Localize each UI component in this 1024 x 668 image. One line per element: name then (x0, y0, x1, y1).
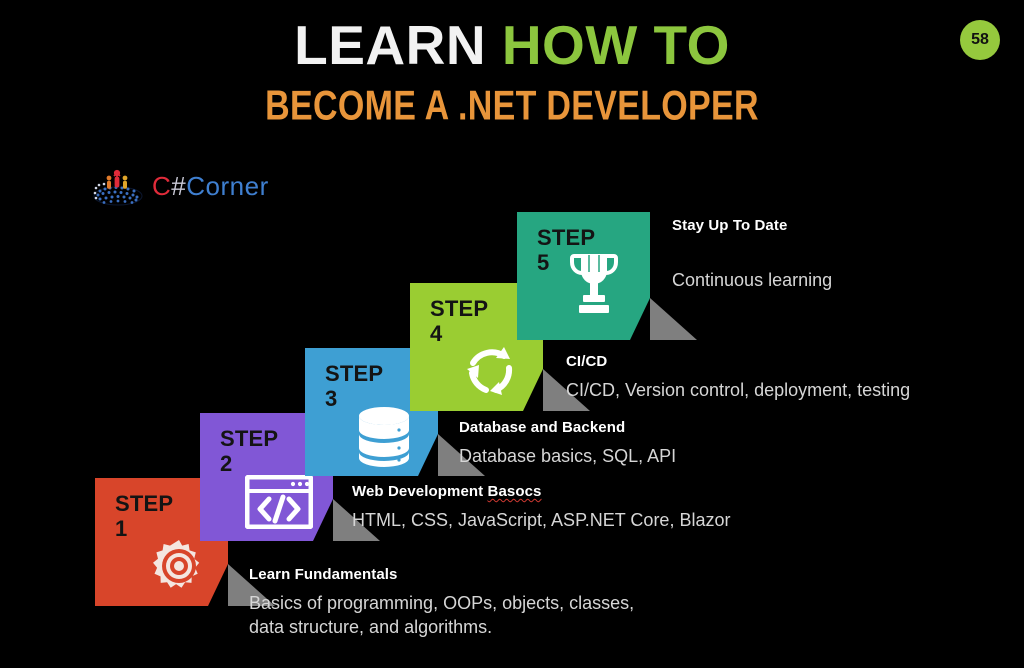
csharp-corner-globe-icon (92, 166, 144, 206)
code-window-icon (245, 475, 313, 534)
title-line-1: LEARN HOW TO (0, 18, 1024, 73)
step-4-heading: CI/CD (566, 353, 910, 370)
title-word-howto: HOW TO (502, 14, 730, 76)
step-4-description: CI/CD CI/CD, Version control, deployment… (566, 353, 910, 403)
step-box-5[interactable]: STEP 5 (517, 212, 697, 340)
step-2-heading: Web Development Basocs (352, 483, 730, 500)
page-number-badge: 58 (960, 20, 1000, 60)
logo-word-corner: Corner (186, 171, 268, 201)
title-line-2: BECOME A .NET DEVELOPER (0, 83, 1024, 131)
step-1-body-line-2: data structure, and algorithms. (249, 616, 634, 640)
step-4-body-line-1: CI/CD, Version control, deployment, test… (566, 379, 910, 403)
title-word-learn: LEARN (294, 14, 486, 76)
step-2-heading-prefix: Web Development (352, 483, 488, 500)
logo-letter-c: C (152, 171, 171, 201)
csharp-corner-logo: C#Corner (92, 166, 269, 206)
csharp-corner-logo-text: C#Corner (152, 171, 269, 202)
database-icon (355, 405, 413, 472)
step-3-label: STEP 3 (325, 362, 383, 411)
gear-icon (151, 538, 207, 599)
step-2-number: 2 (220, 452, 278, 477)
refresh-arrows-icon (460, 341, 522, 408)
step-3-body-line-1: Database basics, SQL, API (459, 445, 676, 469)
step-5-heading: Stay Up To Date (672, 217, 832, 234)
step-4-label: STEP 4 (430, 297, 488, 346)
step-1-label: STEP 1 (115, 492, 173, 541)
slide-canvas: LEARN HOW TO BECOME A .NET DEVELOPER 58 (0, 0, 1024, 668)
step-3-heading: Database and Backend (459, 419, 676, 436)
step-5-description: Stay Up To Date Continuous learning (672, 217, 832, 293)
step-5-shadow-fold (650, 298, 697, 340)
step-5-body-line-1: Continuous learning (672, 269, 832, 293)
step-2-heading-misspelled-word: Basocs (488, 483, 542, 500)
step-1-heading: Learn Fundamentals (249, 566, 634, 583)
title-block: LEARN HOW TO BECOME A .NET DEVELOPER (0, 18, 1024, 122)
step-2-body-line-1: HTML, CSS, JavaScript, ASP.NET Core, Bla… (352, 509, 730, 533)
logo-hash: # (171, 171, 186, 201)
step-2-description: Web Development Basocs HTML, CSS, JavaSc… (352, 483, 730, 533)
step-1-description: Learn Fundamentals Basics of programming… (249, 566, 634, 640)
step-3-description: Database and Backend Database basics, SQ… (459, 419, 676, 469)
step-2-label: STEP 2 (220, 427, 278, 476)
step-1-body-line-1: Basics of programming, OOPs, objects, cl… (249, 592, 634, 616)
trophy-icon (569, 250, 619, 321)
